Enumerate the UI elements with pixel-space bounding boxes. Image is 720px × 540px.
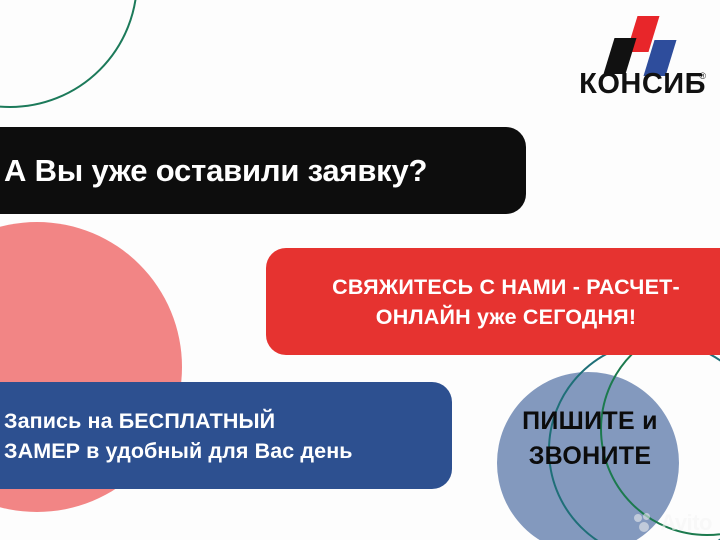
brand-logo: КОНСИБ ® (562, 16, 706, 104)
contact-line-1: ПИШИТЕ и (490, 404, 690, 439)
logo-wordmark: КОНСИБ (562, 68, 706, 101)
avito-dots-icon (634, 513, 656, 533)
booking-line-2: ЗАМЕР в удобный для Вас день (4, 436, 418, 466)
headline-text: А Вы уже оставили заявку? (4, 153, 492, 189)
offer-banner: СВЯЖИТЕСЬ С НАМИ - РАСЧЕТ- ОНЛАЙН уже СЕ… (266, 248, 720, 355)
contact-line-2: ЗВОНИТЕ (490, 439, 690, 474)
avito-watermark-text: Avito (660, 512, 712, 534)
decorative-ring-top-left-icon (0, 0, 138, 108)
avito-watermark: Avito (634, 512, 712, 534)
poster-canvas: КОНСИБ ® А Вы уже оставили заявку? СВЯЖИ… (0, 0, 720, 540)
headline-banner: А Вы уже оставили заявку? (0, 127, 526, 214)
offer-line-1: СВЯЖИТЕСЬ С НАМИ - РАСЧЕТ- (284, 272, 720, 302)
booking-banner: Запись на БЕСПЛАТНЫЙ ЗАМЕР в удобный для… (0, 382, 452, 489)
offer-line-2: ОНЛАЙН уже СЕГОДНЯ! (284, 302, 720, 332)
logo-mark-group (562, 16, 706, 72)
registered-trademark-icon: ® (699, 72, 706, 81)
booking-line-1: Запись на БЕСПЛАТНЫЙ (4, 406, 418, 436)
contact-cta: ПИШИТЕ и ЗВОНИТЕ (490, 404, 690, 474)
